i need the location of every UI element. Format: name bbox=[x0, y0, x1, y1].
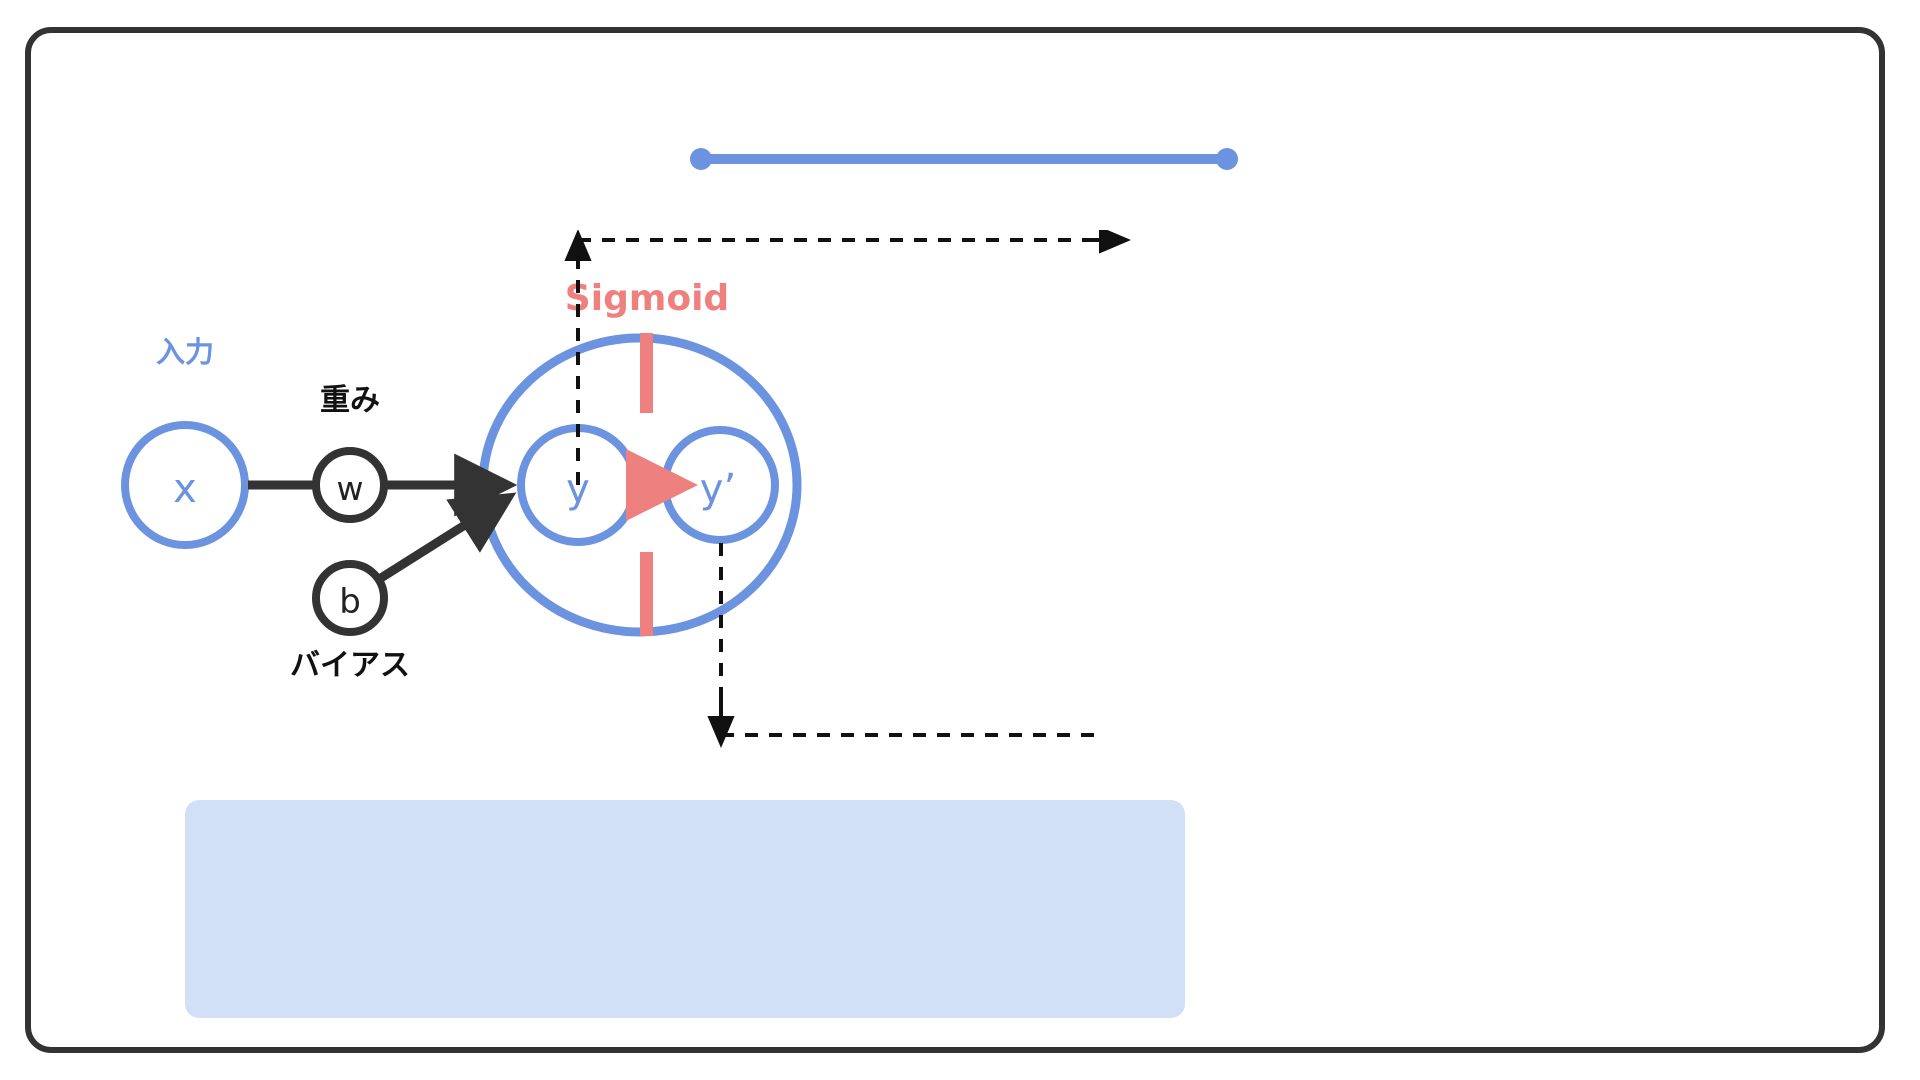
node-x-label: x bbox=[173, 466, 197, 512]
node-b-label: b bbox=[339, 582, 361, 622]
sigmoid-bar-bottom bbox=[640, 552, 653, 636]
underline-dot-right bbox=[1216, 148, 1238, 170]
activation-label: Sigmoid bbox=[565, 278, 729, 319]
edge-b-to-y bbox=[381, 506, 495, 578]
title-underline bbox=[690, 148, 1238, 170]
weight-label: 重み bbox=[320, 384, 380, 417]
neural-node-diagram: x 入力 w 重み b バイアス y y’ Sigmoid bbox=[100, 230, 1330, 750]
chart-output-y bbox=[1335, 135, 1805, 555]
underline-bar bbox=[701, 154, 1227, 164]
node-w-label: w bbox=[337, 469, 364, 508]
summary-box bbox=[185, 800, 1185, 1018]
node-yprime-label: y’ bbox=[700, 466, 736, 512]
bias-label: バイアス bbox=[290, 649, 410, 682]
input-label: 入力 bbox=[156, 336, 214, 369]
sigmoid-bar-top bbox=[640, 333, 653, 413]
chart-output-yprime bbox=[1335, 595, 1805, 1035]
